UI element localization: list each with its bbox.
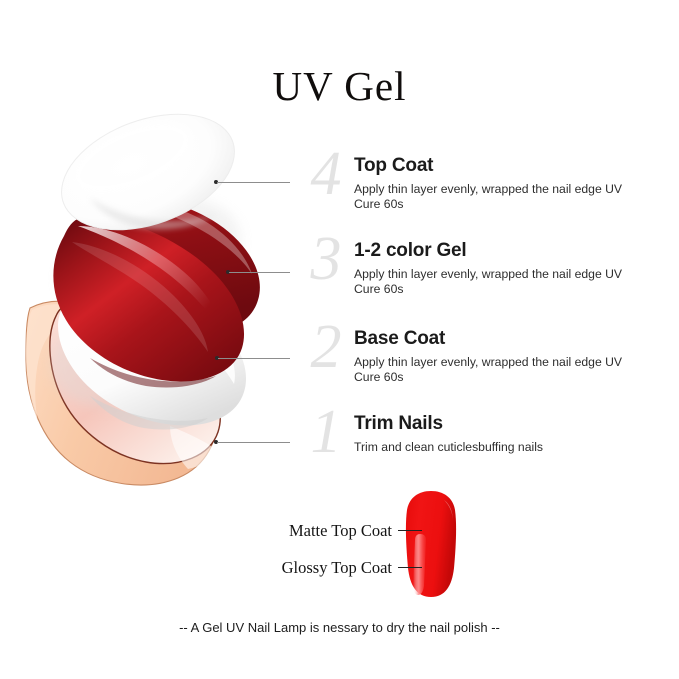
matte-top-coat-label: Matte Top Coat: [258, 521, 392, 541]
step-description-2: Apply thin layer evenly, wrapped the nai…: [354, 355, 630, 385]
glossy-top-coat-leader: [398, 567, 422, 568]
step-body-4: Top Coat Apply thin layer evenly, wrappe…: [354, 155, 630, 212]
step-number-2: 2: [300, 316, 352, 378]
leader-stroke-4: [217, 182, 290, 183]
step-title-1: Trim Nails: [354, 413, 630, 435]
step-number-1: 1: [300, 401, 352, 463]
leader-line-3: [226, 267, 290, 277]
infographic-canvas: UV Gel: [0, 0, 679, 679]
footer-note: -- A Gel UV Nail Lamp is nessary to dry …: [0, 620, 679, 635]
step-description-1: Trim and clean cuticlesbuffing nails: [354, 440, 630, 455]
step-description-4: Apply thin layer evenly, wrapped the nai…: [354, 182, 630, 212]
step-description-3: Apply thin layer evenly, wrapped the nai…: [354, 267, 630, 297]
matte-top-coat-leader: [398, 530, 422, 531]
step-title-3: 1-2 color Gel: [354, 240, 630, 262]
step-title-2: Base Coat: [354, 328, 630, 350]
step-body-1: Trim Nails Trim and clean cuticlesbuffin…: [354, 413, 630, 455]
step-title-4: Top Coat: [354, 155, 630, 177]
step-number-3: 3: [300, 228, 352, 290]
exploded-nail-illustration: [20, 110, 310, 490]
glossy-top-coat-label: Glossy Top Coat: [252, 558, 392, 578]
leader-stroke-1: [217, 442, 290, 443]
leader-line-1: [214, 437, 290, 447]
leader-stroke-3: [229, 272, 290, 273]
step-body-3: 1-2 color Gel Apply thin layer evenly, w…: [354, 240, 630, 297]
leader-stroke-2: [218, 358, 290, 359]
step-number-4: 4: [300, 143, 352, 205]
leader-line-2: [215, 353, 290, 363]
step-body-2: Base Coat Apply thin layer evenly, wrapp…: [354, 328, 630, 385]
red-nail-icon: [400, 490, 462, 600]
page-title: UV Gel: [0, 62, 679, 110]
leader-line-4: [214, 177, 290, 187]
